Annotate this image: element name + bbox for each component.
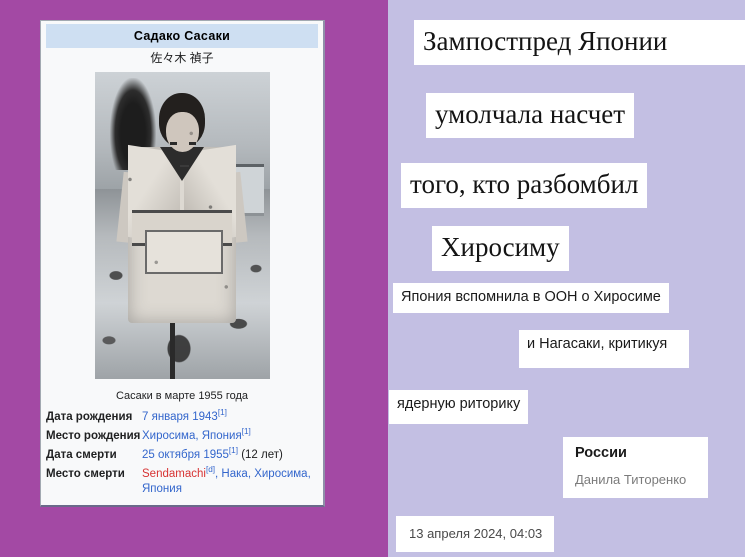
sadako-sasaki-photo (95, 72, 270, 379)
row-label-birth-place: Место рождения (46, 427, 142, 446)
table-row: Дата смерти 25 октября 1955[1] (12 лет) (46, 446, 318, 465)
infobox-fact-table: Дата рождения 7 января 1943[1] Место рож… (46, 408, 318, 499)
headline-line-3: того, кто разбомбил (401, 163, 647, 208)
death-date-link[interactable]: 25 октября 1955 (142, 449, 229, 461)
source-name: России (575, 446, 698, 461)
left-purple-stage: Садако Сасаки 佐々木 禎子 (0, 0, 388, 557)
death-date-reference[interactable]: [1] (229, 446, 238, 455)
headline-line-4: Хиросиму (432, 226, 569, 271)
photo-grain (95, 72, 270, 379)
headline-line-2: умолчала насчет (426, 93, 634, 138)
row-value-death-place: Sendamachi[d], Нака, Хиросима, Япония (142, 465, 318, 499)
death-place-link[interactable]: Sendamachi (142, 468, 206, 480)
row-label-death-place: Место смерти (46, 465, 142, 499)
timestamp-box: 13 апреля 2024, 04:03 (396, 516, 554, 552)
row-label-birth-date: Дата рождения (46, 408, 142, 427)
birth-place-reference[interactable]: [1] (242, 427, 251, 436)
infobox-photo-wrapper (46, 72, 318, 386)
table-row: Место смерти Sendamachi[d], Нака, Хироси… (46, 465, 318, 499)
birth-date-link[interactable]: 7 января 1943 (142, 411, 218, 423)
source-credit-box: России Данила Титоренко (563, 437, 708, 498)
source-author: Данила Титоренко (575, 473, 698, 487)
headline-line-1: Зампостпред Японии (414, 20, 745, 65)
death-place-wikidata-marker[interactable]: [d] (206, 465, 215, 474)
wikipedia-infobox: Садако Сасаки 佐々木 禎子 (40, 20, 325, 507)
infobox-photo-caption: Сасаки в марте 1955 года (46, 386, 318, 408)
subhead-line-1: Япония вспомнила в ООН о Хиросиме (393, 283, 669, 313)
death-date-age: (12 лет) (238, 449, 283, 461)
birth-place-link[interactable]: Хиросима, Япония (142, 430, 242, 442)
right-lavender-stage: Зампостпред Японии умолчала насчет того,… (388, 0, 745, 557)
row-value-birth-date: 7 января 1943[1] (142, 408, 318, 427)
table-row: Дата рождения 7 января 1943[1] (46, 408, 318, 427)
subhead-line-3: ядерную риторику (389, 390, 528, 424)
infobox-title: Садако Сасаки (46, 24, 318, 48)
row-value-birth-place: Хиросима, Япония[1] (142, 427, 318, 446)
row-value-death-date: 25 октября 1955[1] (12 лет) (142, 446, 318, 465)
subhead-line-2: и Нагасаки, критикуя (519, 330, 689, 368)
row-label-death-date: Дата смерти (46, 446, 142, 465)
birth-date-reference[interactable]: [1] (218, 408, 227, 417)
infobox-subtitle-japanese: 佐々木 禎子 (46, 48, 318, 72)
table-row: Место рождения Хиросима, Япония[1] (46, 427, 318, 446)
